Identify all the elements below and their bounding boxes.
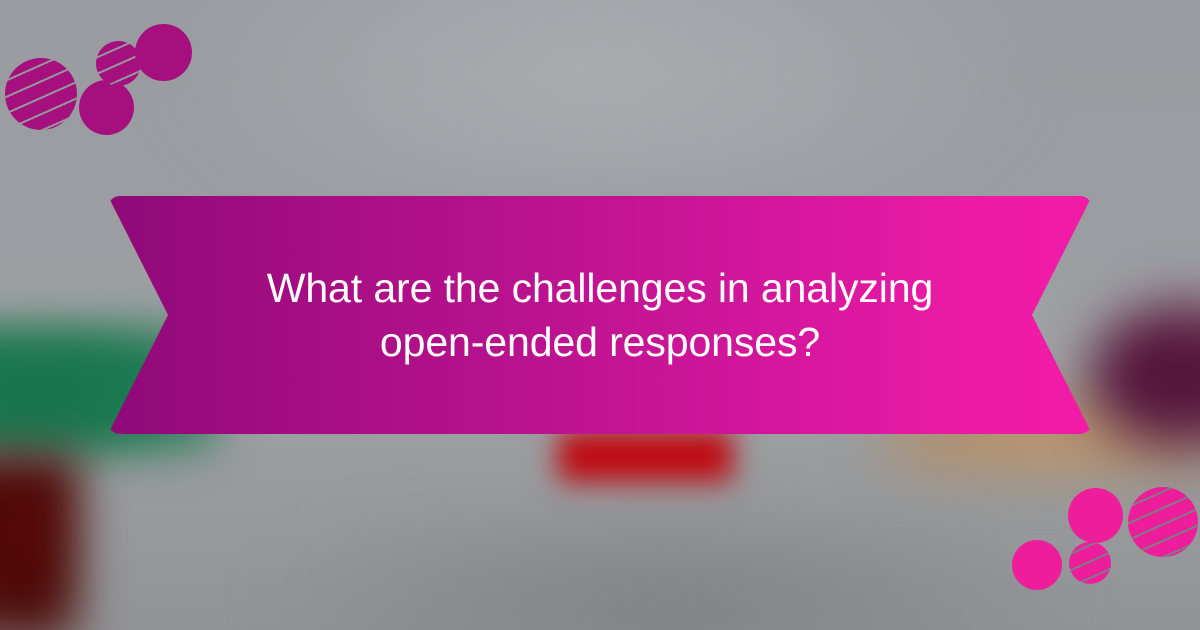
circle-solid-medium-icon [1012,540,1062,590]
circle-striped-large-icon [1128,487,1198,557]
circle-solid-large-icon [1068,488,1123,543]
circle-solid-large-icon [135,24,192,81]
background-blob-red [558,430,733,482]
social-card-canvas: What are the challenges in analyzing ope… [0,0,1200,630]
background-highlight-top [150,0,1050,200]
banner-headline-text: What are the challenges in analyzing ope… [108,196,1092,434]
circle-striped-small-icon [1069,542,1111,584]
circle-solid-medium-icon [79,80,134,135]
background-blob-maroon [0,455,80,630]
background-shadow-bottom [260,520,1080,630]
headline-banner: What are the challenges in analyzing ope… [108,196,1092,434]
circle-striped-large-icon [5,58,77,130]
